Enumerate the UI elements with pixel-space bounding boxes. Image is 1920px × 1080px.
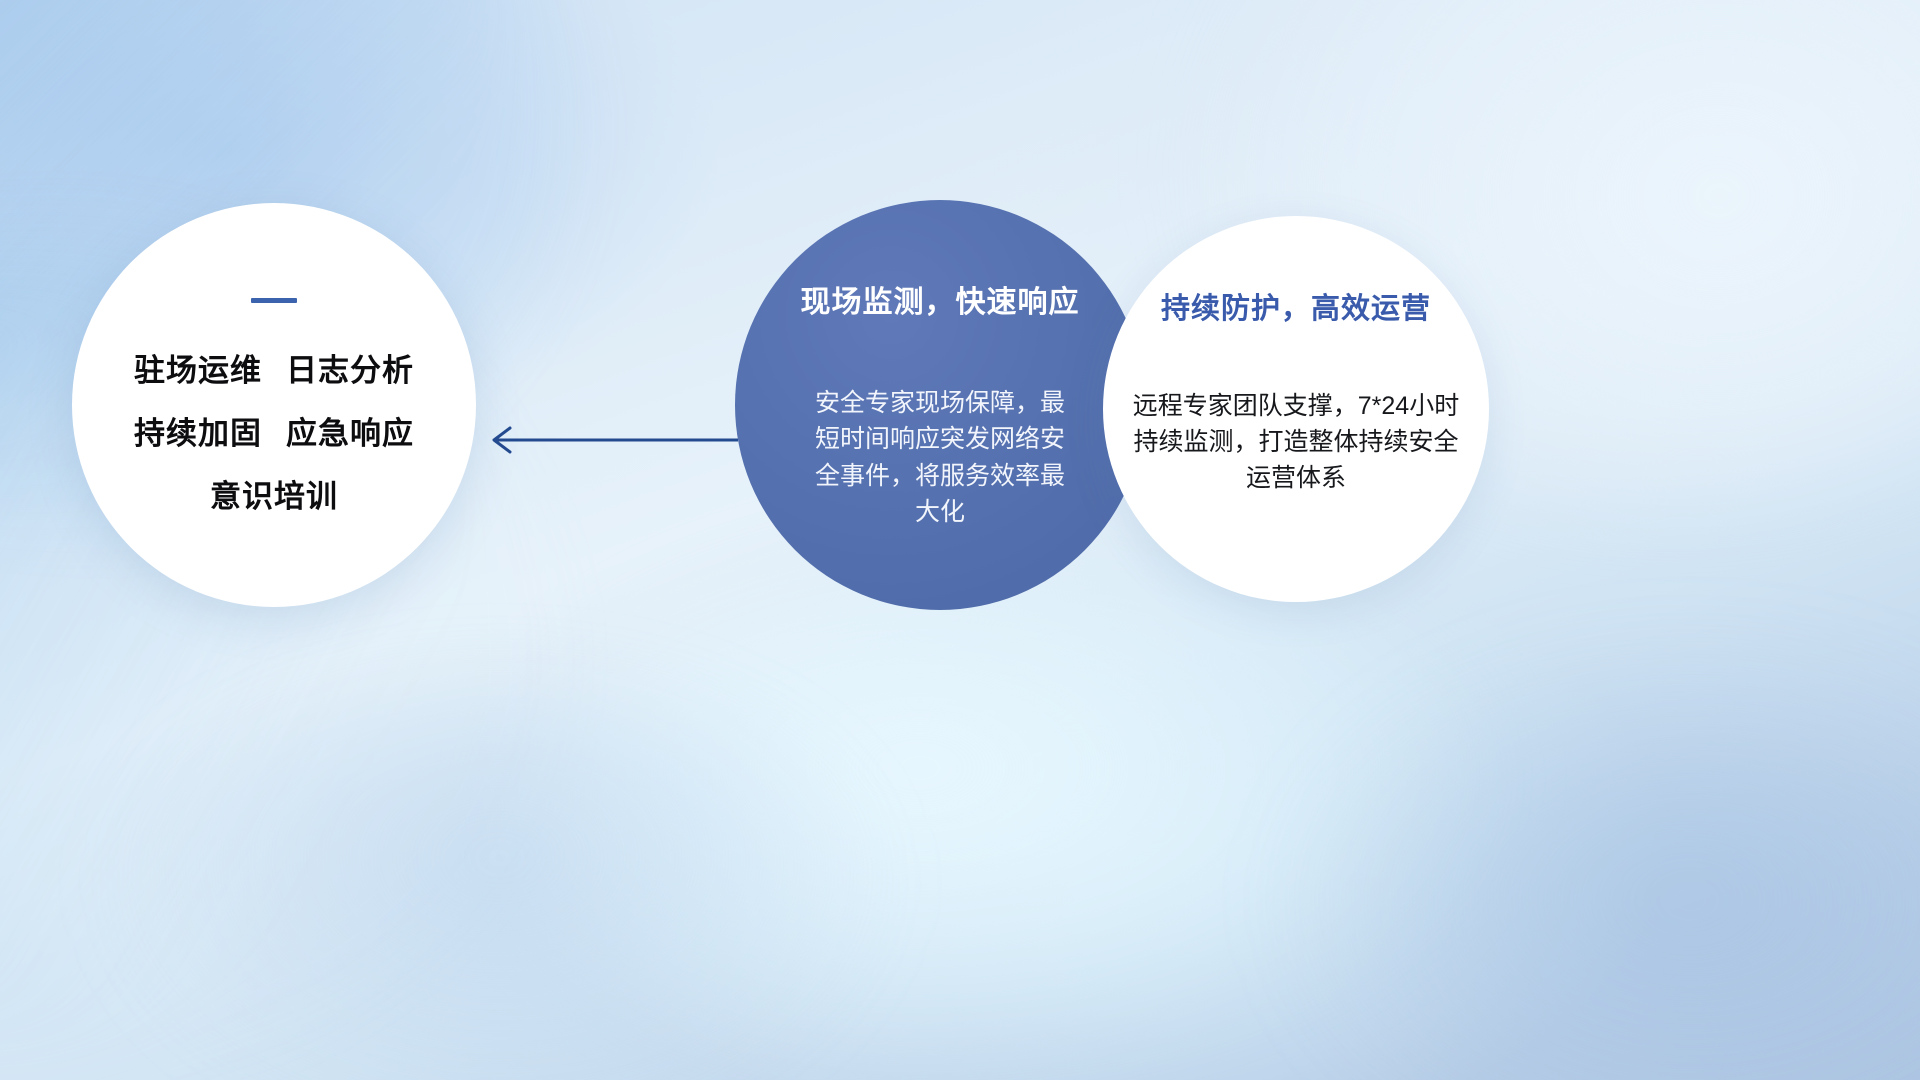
capability-keyword: 意识培训 bbox=[210, 479, 338, 514]
onsite-monitoring-content: 现场监测，快速响应 安全专家现场保障，最短时间响应突发网络安全事件，将服务效率最… bbox=[735, 200, 1145, 610]
capability-row: 驻场运维日志分析 bbox=[134, 355, 414, 386]
capability-keyword: 应急响应 bbox=[286, 416, 414, 451]
slide-canvas: 驻场运维日志分析 持续加固应急响应 意识培训 现场监测，快速响应 安全专家现场保… bbox=[0, 0, 1920, 1080]
background-glow-center-bottom bbox=[520, 560, 1520, 1080]
background-glow-bottom-right bbox=[1280, 640, 1920, 1080]
onsite-monitoring-circle[interactable]: 现场监测，快速响应 安全专家现场保障，最短时间响应突发网络安全事件，将服务效率最… bbox=[735, 200, 1145, 610]
capability-keyword: 持续加固 bbox=[134, 416, 262, 451]
continuous-protection-circle[interactable]: 持续防护，高效运营 远程专家团队支撑，7*24小时持续监测，打造整体持续安全运营… bbox=[1103, 216, 1489, 602]
capability-keyword: 日志分析 bbox=[286, 353, 414, 388]
onsite-monitoring-body: 安全专家现场保障，最短时间响应突发网络安全事件，将服务效率最大化 bbox=[805, 385, 1075, 530]
capability-row: 意识培训 bbox=[210, 481, 338, 512]
onsite-monitoring-title: 现场监测，快速响应 bbox=[801, 286, 1080, 319]
capability-circle[interactable]: 驻场运维日志分析 持续加固应急响应 意识培训 bbox=[72, 203, 476, 607]
capability-row: 持续加固应急响应 bbox=[134, 418, 414, 449]
title-divider-dash bbox=[251, 298, 297, 303]
continuous-protection-content: 持续防护，高效运营 远程专家团队支撑，7*24小时持续监测，打造整体持续安全运营… bbox=[1103, 216, 1489, 602]
connector-arrow bbox=[480, 418, 740, 462]
background-glow-bottom-left bbox=[120, 690, 880, 1080]
capability-circle-content: 驻场运维日志分析 持续加固应急响应 意识培训 bbox=[72, 203, 476, 607]
left-pointing-arrow-icon bbox=[494, 428, 738, 452]
continuous-protection-title: 持续防护，高效运营 bbox=[1161, 294, 1431, 326]
capability-keyword: 驻场运维 bbox=[134, 353, 262, 388]
continuous-protection-body: 远程专家团队支撑，7*24小时持续监测，打造整体持续安全运营体系 bbox=[1131, 388, 1461, 497]
